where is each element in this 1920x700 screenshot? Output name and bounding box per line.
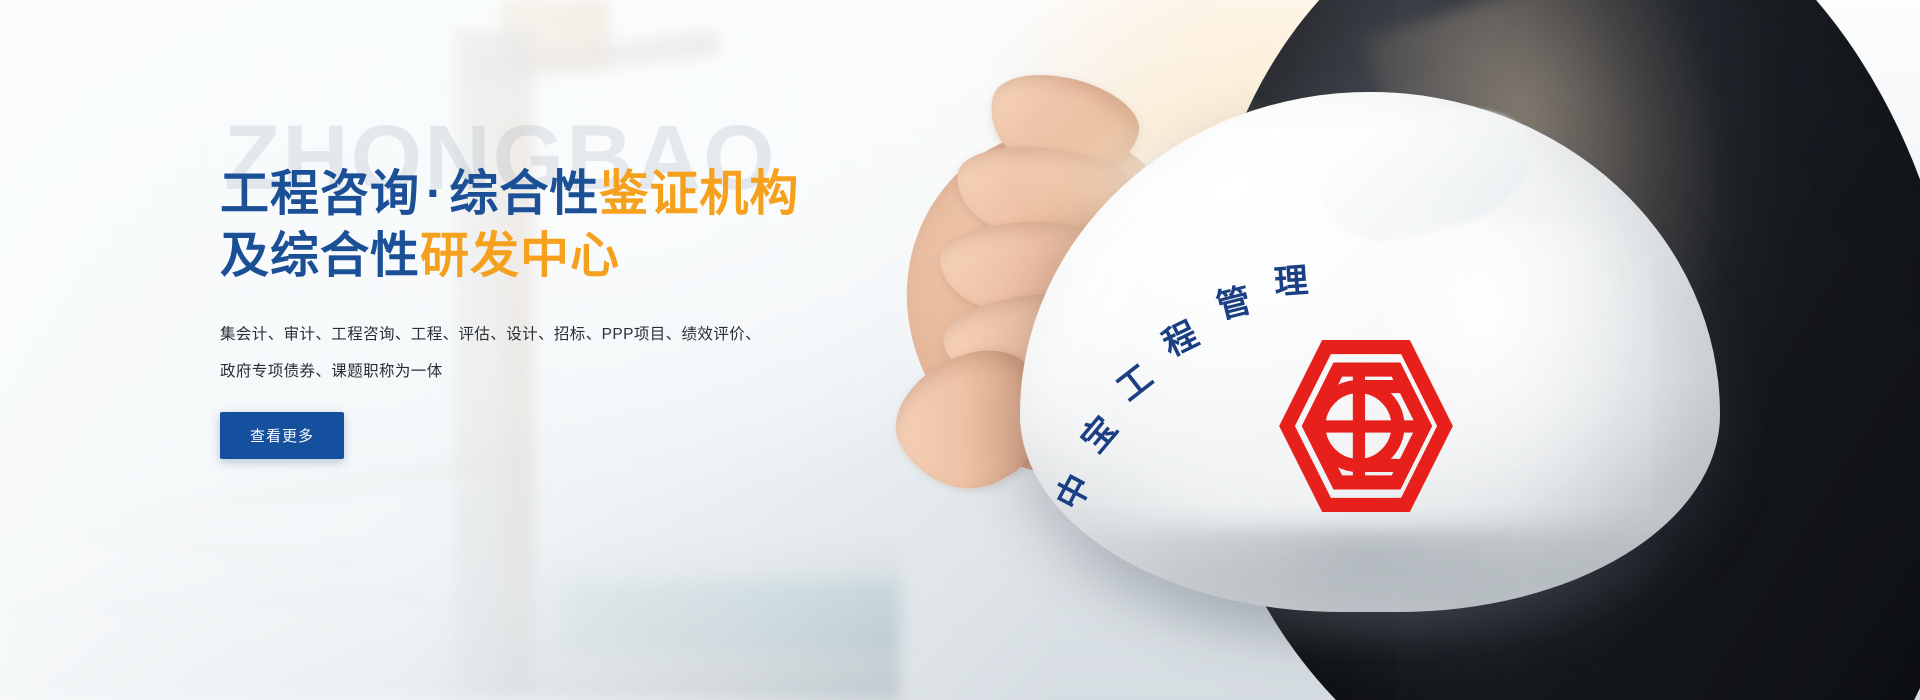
helmet-brand-char-2: 工 — [1105, 351, 1162, 411]
helmet-brand-char-0: 中 — [1041, 464, 1100, 517]
hero-description: 集会计、审计、工程咨询、工程、评估、设计、招标、PPP项目、绩效评价、 政府专项… — [220, 317, 820, 390]
helmet-brand-char-3: 程 — [1153, 307, 1205, 366]
worker-photo: 中 宝 工 程 管 理 — [860, 0, 1920, 700]
helmet-brand-text: 中 宝 工 程 管 理 — [990, 122, 1430, 582]
headline-line-1: 工程咨询·综合性鉴证机构 — [220, 164, 980, 226]
view-more-button[interactable]: 查看更多 — [220, 412, 344, 459]
headline-line1-blue2: 综合性 — [449, 167, 599, 221]
headline-line1-orange: 鉴证机构 — [599, 167, 799, 221]
description-line-1: 集会计、审计、工程咨询、工程、评估、设计、招标、PPP项目、绩效评价、 — [220, 326, 761, 343]
headline-line-2: 及综合性研发中心 — [220, 226, 980, 288]
headline-line2-blue: 及综合性 — [220, 229, 420, 283]
headline-separator-dot: · — [420, 167, 449, 221]
hero-banner: 中 宝 工 程 管 理 ZHONGBAO 工程咨询·综合性鉴证机构 及综合性研发… — [0, 0, 1920, 700]
headline-line2-orange: 研发中心 — [420, 229, 620, 283]
description-line-2: 政府专项债券、课题职称为一体 — [220, 354, 820, 390]
helmet-brand-char-4: 管 — [1211, 273, 1256, 329]
helmet-brand-char-1: 宝 — [1067, 404, 1126, 462]
headline-line1-blue: 工程咨询 — [220, 167, 420, 221]
helmet-brand-char-5: 理 — [1272, 253, 1309, 304]
hero-content: ZHONGBAO 工程咨询·综合性鉴证机构 及综合性研发中心 集会计、审计、工程… — [220, 112, 980, 459]
page-title: 工程咨询·综合性鉴证机构 及综合性研发中心 — [220, 164, 980, 287]
white-hard-hat: 中 宝 工 程 管 理 — [1020, 92, 1720, 652]
